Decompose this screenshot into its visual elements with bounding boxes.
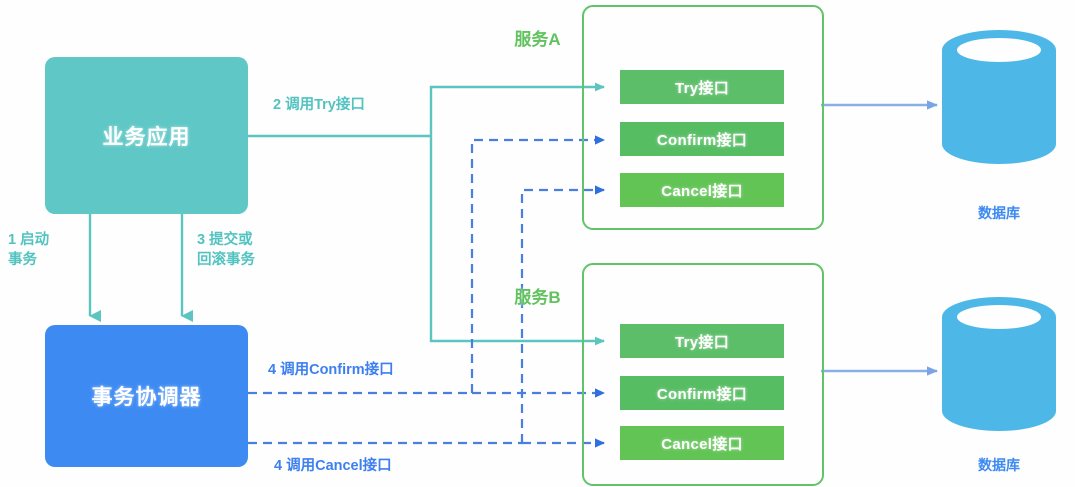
- service-a-try-interface[interactable]: Try接口: [620, 70, 784, 104]
- service-a-try-interface-label: Try接口: [675, 77, 729, 98]
- edge-label-start-transaction: 1 启动 事务: [8, 231, 49, 270]
- service-a-cancel-interface[interactable]: Cancel接口: [620, 173, 784, 207]
- database-b-label: 数据库: [938, 455, 1060, 475]
- service-b-try-interface-label: Try接口: [675, 331, 729, 352]
- node-business-application[interactable]: 业务应用: [45, 57, 248, 214]
- service-a-title: 服务A: [0, 25, 1075, 50]
- service-b-confirm-interface[interactable]: Confirm接口: [620, 376, 784, 410]
- database-a-label: 数据库: [938, 203, 1060, 223]
- diagram-canvas: 业务应用 事务协调器 服务A Try接口 Confirm接口 Cancel接口 …: [0, 0, 1075, 487]
- service-a-confirm-interface-label: Confirm接口: [657, 129, 747, 150]
- edge-call-confirm: [248, 140, 604, 393]
- edge-label-call-confirm-interface: 4 调用Confirm接口: [268, 361, 394, 381]
- service-b-cancel-interface[interactable]: Cancel接口: [620, 426, 784, 460]
- service-b-confirm-interface-label: Confirm接口: [657, 383, 747, 404]
- node-transaction-coordinator[interactable]: 事务协调器: [45, 325, 248, 467]
- database-cylinder-b[interactable]: [938, 295, 1060, 433]
- edge-label-call-cancel-interface: 4 调用Cancel接口: [274, 457, 392, 477]
- service-b-try-interface[interactable]: Try接口: [620, 324, 784, 358]
- database-cylinder-a[interactable]: [938, 28, 1060, 166]
- service-a-confirm-interface[interactable]: Confirm接口: [620, 122, 784, 156]
- node-transaction-coordinator-label: 事务协调器: [92, 381, 202, 411]
- edge-call-cancel: [248, 190, 604, 443]
- service-a-cancel-interface-label: Cancel接口: [661, 180, 743, 201]
- edge-label-commit-or-rollback-transaction: 3 提交或 回滚事务: [197, 231, 255, 270]
- service-b-title: 服务B: [0, 283, 1075, 308]
- edge-label-call-try-interface: 2 调用Try接口: [273, 96, 365, 116]
- node-business-application-label: 业务应用: [103, 121, 191, 151]
- service-b-cancel-interface-label: Cancel接口: [661, 433, 743, 454]
